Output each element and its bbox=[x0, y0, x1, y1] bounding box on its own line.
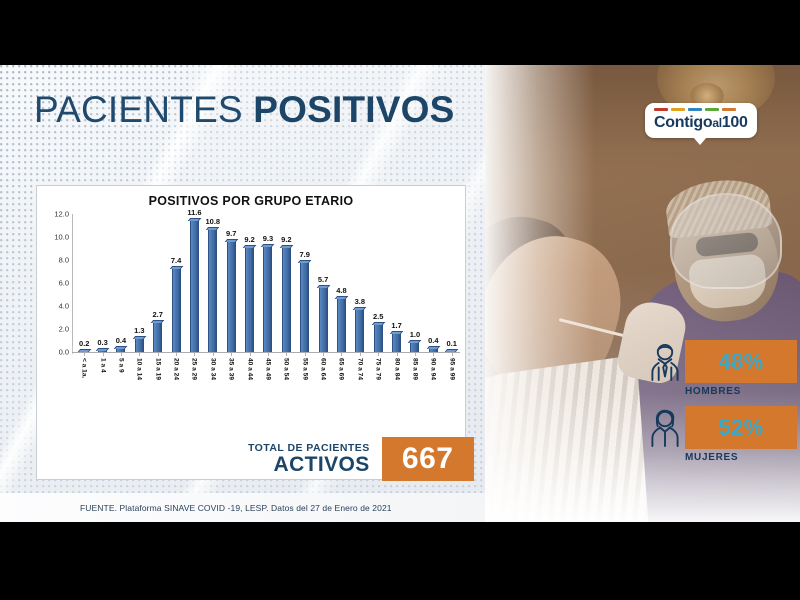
bar-value-label: 2.5 bbox=[373, 312, 383, 321]
x-axis-label: 20 a 24 bbox=[173, 358, 180, 380]
x-axis-tick bbox=[415, 353, 416, 356]
x-label-slot: 25 a 29 bbox=[185, 356, 203, 418]
bar-slot: 4.8 bbox=[332, 214, 350, 352]
bar-top-face bbox=[188, 218, 202, 221]
bar-value-label: 7.4 bbox=[171, 256, 181, 265]
x-axis-label: 65 a 69 bbox=[338, 358, 345, 380]
bar-slot: 11.6 bbox=[185, 214, 203, 352]
x-axis-tick bbox=[323, 353, 324, 356]
chart-bar: 2.5 bbox=[374, 323, 383, 352]
x-label-slot: 70 a 74 bbox=[351, 356, 369, 418]
y-axis-tick: 2.0 bbox=[43, 325, 69, 334]
bar-slot: 9.3 bbox=[259, 214, 277, 352]
x-label-slot: 35 a 39 bbox=[222, 356, 240, 418]
chart-bar: 4.8 bbox=[337, 297, 346, 352]
bar-value-label: 10.8 bbox=[206, 217, 221, 226]
x-axis-label: 30 a 34 bbox=[209, 358, 216, 380]
gender-percent-value: 48% bbox=[719, 349, 764, 375]
gender-percent-bar: 52% bbox=[685, 406, 797, 449]
bar-top-face bbox=[427, 346, 441, 349]
total-labels: TOTAL DE PACIENTES ACTIVOS bbox=[248, 443, 370, 476]
x-axis-label: 90 a 94 bbox=[430, 358, 437, 380]
chart-bar: 1.0 bbox=[410, 341, 419, 353]
x-label-slot: 5 a 9 bbox=[112, 356, 130, 418]
bar-top-face bbox=[206, 227, 220, 230]
bar-top-face bbox=[316, 285, 330, 288]
bar-value-label: 0.4 bbox=[428, 336, 438, 345]
bar-value-label: 0.2 bbox=[79, 339, 89, 348]
x-axis-tick bbox=[268, 353, 269, 356]
y-axis-tick: 0.0 bbox=[43, 348, 69, 357]
bar-slot: 7.4 bbox=[167, 214, 185, 352]
bar-value-label: 3.8 bbox=[355, 297, 365, 306]
x-label-slot: 40 a 44 bbox=[240, 356, 258, 418]
x-axis-label: < a 1a. bbox=[81, 358, 88, 378]
x-label-slot: 85 a 89 bbox=[406, 356, 424, 418]
chart-bar: 1.7 bbox=[392, 332, 401, 352]
bar-slot: 2.5 bbox=[369, 214, 387, 352]
total-active-patients: TOTAL DE PACIENTES ACTIVOS 667 bbox=[248, 435, 474, 483]
x-axis-label: 55 a 59 bbox=[301, 358, 308, 380]
x-axis-tick bbox=[194, 353, 195, 356]
x-label-slot: 90 a 94 bbox=[424, 356, 442, 418]
logo-text-main: Contigo bbox=[654, 114, 712, 131]
bar-top-face bbox=[261, 244, 275, 247]
chart-bar: 7.4 bbox=[172, 267, 181, 352]
gender-stats: 48%HOMBRES52%MUJERES bbox=[647, 340, 797, 472]
logo-color-bar bbox=[705, 108, 719, 111]
x-axis-tick bbox=[433, 353, 434, 356]
female-person-icon bbox=[647, 408, 683, 448]
logo-text-100: 100 bbox=[722, 114, 748, 131]
y-axis-ticks: 0.02.04.06.08.010.012.0 bbox=[43, 214, 69, 352]
chart-bar: 9.2 bbox=[245, 246, 254, 352]
slide-content: PACIENTES POSITIVOS POSITIVOS POR GRUPO … bbox=[0, 65, 800, 522]
y-axis-tick: 10.0 bbox=[43, 233, 69, 242]
bar-value-label: 0.3 bbox=[97, 338, 107, 347]
total-value-box: 667 bbox=[382, 437, 474, 481]
x-label-slot: < a 1a. bbox=[75, 356, 93, 418]
bar-slot: 3.8 bbox=[351, 214, 369, 352]
y-axis-line bbox=[72, 214, 73, 352]
photo-panel: Contigoal100 48%HOMBRES52%MUJERES bbox=[485, 65, 800, 522]
x-label-slot: 75 a 79 bbox=[369, 356, 387, 418]
logo-color-bar bbox=[722, 108, 736, 111]
bar-value-label: 9.2 bbox=[244, 235, 254, 244]
chart-bar: 0.4 bbox=[116, 347, 125, 352]
bar-top-face bbox=[408, 340, 422, 343]
bar-top-face bbox=[224, 239, 238, 242]
x-label-slot: 60 a 64 bbox=[314, 356, 332, 418]
bar-slot: 2.7 bbox=[149, 214, 167, 352]
bar-series: 0.20.30.41.32.77.411.610.89.79.29.39.27.… bbox=[75, 214, 461, 352]
bar-top-face bbox=[96, 348, 110, 351]
x-axis-label: 25 a 29 bbox=[191, 358, 198, 380]
x-axis-tick bbox=[341, 353, 342, 356]
bar-top-face bbox=[280, 245, 294, 248]
chart-bar: 9.3 bbox=[263, 245, 272, 352]
x-label-slot: 50 a 54 bbox=[277, 356, 295, 418]
x-axis-label: 40 a 44 bbox=[246, 358, 253, 380]
bar-value-label: 1.0 bbox=[410, 330, 420, 339]
male-person-icon bbox=[647, 342, 683, 382]
x-label-slot: 10 a 14 bbox=[130, 356, 148, 418]
bar-top-face bbox=[114, 346, 128, 349]
x-axis-label: 50 a 54 bbox=[283, 358, 290, 380]
x-axis-label: 70 a 74 bbox=[356, 358, 363, 380]
x-axis-line bbox=[72, 352, 460, 353]
logo-color-bar bbox=[654, 108, 668, 111]
x-axis-label: 80 a 84 bbox=[393, 358, 400, 380]
x-axis-label: 45 a 49 bbox=[264, 358, 271, 380]
chart-bar: 9.7 bbox=[227, 240, 236, 352]
bar-top-face bbox=[169, 266, 183, 269]
logo-text-al: al bbox=[712, 116, 721, 130]
x-axis-tick bbox=[250, 353, 251, 356]
x-label-slot: 1 a 4 bbox=[93, 356, 111, 418]
x-axis-label: 15 a 19 bbox=[154, 358, 161, 380]
x-axis-tick bbox=[213, 353, 214, 356]
left-content-panel: PACIENTES POSITIVOS POSITIVOS POR GRUPO … bbox=[0, 65, 485, 522]
bar-slot: 1.0 bbox=[406, 214, 424, 352]
bar-value-label: 1.3 bbox=[134, 326, 144, 335]
chart-bar: 1.3 bbox=[135, 337, 144, 352]
bar-slot: 1.3 bbox=[130, 214, 148, 352]
x-axis-tick bbox=[305, 353, 306, 356]
chart-bar: 0.1 bbox=[447, 350, 456, 352]
bar-slot: 0.4 bbox=[424, 214, 442, 352]
gender-percent-bar: 48% bbox=[685, 340, 797, 383]
bar-top-face bbox=[298, 260, 312, 263]
bar-value-label: 7.9 bbox=[299, 250, 309, 259]
bar-slot: 7.9 bbox=[296, 214, 314, 352]
bar-slot: 5.7 bbox=[314, 214, 332, 352]
bar-value-label: 1.7 bbox=[391, 321, 401, 330]
bar-top-face bbox=[335, 296, 349, 299]
source-bar: FUENTE. Plataforma SINAVE COVID -19, LES… bbox=[0, 493, 485, 522]
gender-stat-row: 52%MUJERES bbox=[647, 406, 797, 472]
contigo-al-100-logo: Contigoal100 bbox=[645, 103, 757, 138]
x-axis-tick bbox=[139, 353, 140, 356]
x-axis-tick bbox=[103, 353, 104, 356]
x-axis-label: 60 a 64 bbox=[320, 358, 327, 380]
bar-top-face bbox=[390, 331, 404, 334]
bar-slot: 9.2 bbox=[240, 214, 258, 352]
logo-color-bars bbox=[654, 108, 748, 111]
total-label-small: TOTAL DE PACIENTES bbox=[248, 443, 370, 454]
x-axis-tick bbox=[286, 353, 287, 356]
bar-value-label: 0.4 bbox=[116, 336, 126, 345]
bar-slot: 10.8 bbox=[204, 214, 222, 352]
bar-slot: 0.3 bbox=[93, 214, 111, 352]
y-axis-tick: 6.0 bbox=[43, 279, 69, 288]
x-axis-label: 5 a 9 bbox=[117, 358, 124, 373]
bar-slot: 0.4 bbox=[112, 214, 130, 352]
x-axis-label: 10 a 14 bbox=[136, 358, 143, 380]
x-label-slot: 45 a 49 bbox=[259, 356, 277, 418]
chart-bar: 0.2 bbox=[80, 350, 89, 352]
x-axis-tick bbox=[84, 353, 85, 356]
x-label-slot: 65 a 69 bbox=[332, 356, 350, 418]
chart-bar: 3.8 bbox=[355, 308, 364, 352]
page-title-light: PACIENTES bbox=[34, 89, 243, 130]
bar-slot: 1.7 bbox=[387, 214, 405, 352]
bar-value-label: 4.8 bbox=[336, 286, 346, 295]
chart-bar: 10.8 bbox=[208, 228, 217, 352]
x-axis-label: 85 a 89 bbox=[411, 358, 418, 380]
chart-bar: 0.4 bbox=[429, 347, 438, 352]
x-axis-tick bbox=[397, 353, 398, 356]
x-axis-tick bbox=[452, 353, 453, 356]
bar-top-face bbox=[243, 245, 257, 248]
bar-top-face bbox=[353, 307, 367, 310]
x-axis-tick bbox=[176, 353, 177, 356]
bar-top-face bbox=[445, 349, 459, 352]
x-axis-label: 1 a 4 bbox=[99, 358, 106, 373]
page-title: PACIENTES POSITIVOS bbox=[34, 89, 455, 131]
chart-bar: 2.7 bbox=[153, 321, 162, 352]
x-axis-tick bbox=[158, 353, 159, 356]
x-label-slot: 80 a 84 bbox=[387, 356, 405, 418]
gender-percent-value: 52% bbox=[719, 415, 764, 441]
x-axis-tick bbox=[121, 353, 122, 356]
bar-top-face bbox=[371, 322, 385, 325]
bar-value-label: 2.7 bbox=[152, 310, 162, 319]
x-axis-label: 75 a 79 bbox=[375, 358, 382, 380]
chart-bar: 0.3 bbox=[98, 349, 107, 352]
slide-viewer: PACIENTES POSITIVOS POSITIVOS POR GRUPO … bbox=[0, 0, 800, 600]
bar-value-label: 11.6 bbox=[187, 208, 201, 217]
x-axis-tick bbox=[360, 353, 361, 356]
y-axis-tick: 12.0 bbox=[43, 210, 69, 219]
bar-value-label: 5.7 bbox=[318, 275, 328, 284]
bar-value-label: 0.1 bbox=[446, 339, 456, 348]
bar-top-face bbox=[151, 320, 165, 323]
x-label-slot: 20 a 24 bbox=[167, 356, 185, 418]
total-label-big: ACTIVOS bbox=[248, 454, 370, 476]
bar-slot: 9.7 bbox=[222, 214, 240, 352]
logo-text: Contigoal100 bbox=[654, 114, 748, 132]
x-label-slot: 15 a 19 bbox=[149, 356, 167, 418]
source-text: FUENTE. Plataforma SINAVE COVID -19, LES… bbox=[80, 503, 392, 513]
x-axis-label: 35 a 39 bbox=[228, 358, 235, 380]
bar-value-label: 9.3 bbox=[263, 234, 273, 243]
gender-stat-row: 48%HOMBRES bbox=[647, 340, 797, 406]
gender-label: HOMBRES bbox=[685, 386, 741, 397]
page-title-bold: POSITIVOS bbox=[253, 89, 454, 130]
bar-slot: 0.2 bbox=[75, 214, 93, 352]
chart-title: POSITIVOS POR GRUPO ETARIO bbox=[37, 194, 465, 208]
x-axis-tick bbox=[378, 353, 379, 356]
x-label-slot: 55 a 59 bbox=[296, 356, 314, 418]
chart-bar: 9.2 bbox=[282, 246, 291, 352]
bar-value-label: 9.7 bbox=[226, 229, 236, 238]
chart-bar: 11.6 bbox=[190, 219, 199, 352]
x-axis-tick bbox=[231, 353, 232, 356]
x-label-slot: 95 a 99 bbox=[443, 356, 461, 418]
y-axis-tick: 8.0 bbox=[43, 256, 69, 265]
y-axis-tick: 4.0 bbox=[43, 302, 69, 311]
x-axis-label: 95 a 99 bbox=[448, 358, 455, 380]
bar-slot: 9.2 bbox=[277, 214, 295, 352]
bar-top-face bbox=[77, 349, 91, 352]
x-label-slot: 30 a 34 bbox=[204, 356, 222, 418]
x-axis-labels: < a 1a.1 a 45 a 910 a 1415 a 1920 a 2425… bbox=[75, 356, 461, 418]
bar-value-label: 9.2 bbox=[281, 235, 291, 244]
bar-slot: 0.1 bbox=[443, 214, 461, 352]
chart-bar: 5.7 bbox=[319, 286, 328, 352]
chart-bar: 7.9 bbox=[300, 261, 309, 352]
gender-label: MUJERES bbox=[685, 452, 738, 463]
bar-top-face bbox=[133, 336, 147, 339]
logo-color-bar bbox=[671, 108, 685, 111]
logo-color-bar bbox=[688, 108, 702, 111]
